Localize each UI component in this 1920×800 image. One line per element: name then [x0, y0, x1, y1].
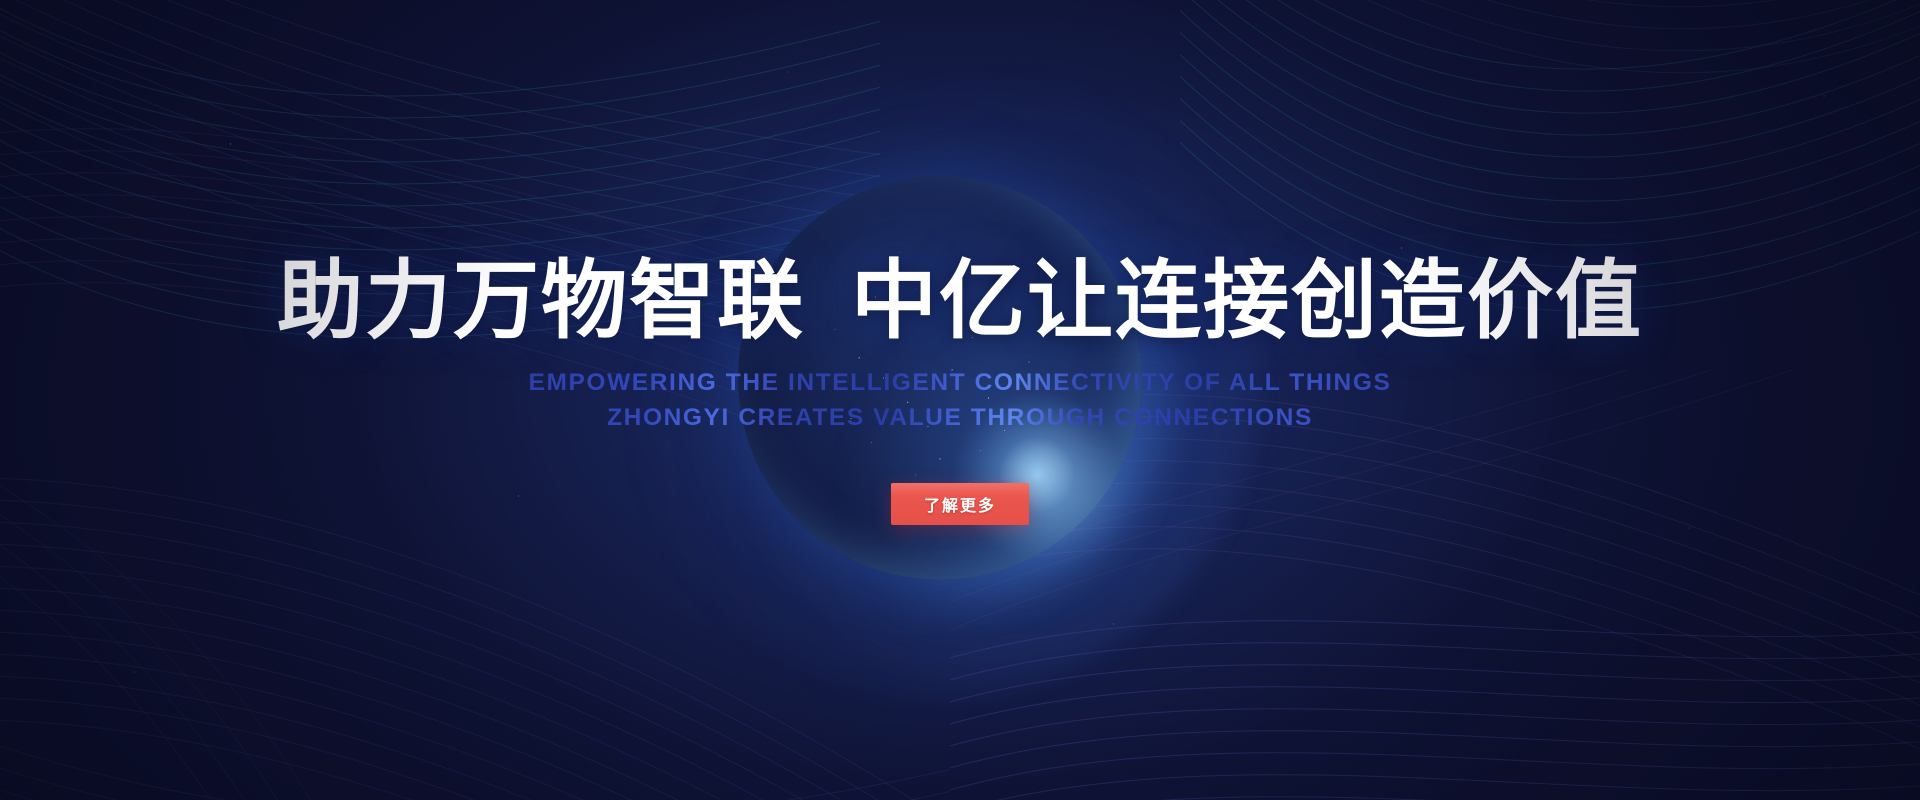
- headline-part-2: 中亿让连接创造价值: [851, 253, 1643, 349]
- subtitle-line-2: ZHONGYI CREATES VALUE THROUGH CONNECTION…: [529, 401, 1392, 436]
- hero-content: 助力万物智联中亿让连接创造价值 EMPOWERING THE INTELLIGE…: [0, 0, 1920, 800]
- subtitle-line-1: EMPOWERING THE INTELLIGENT CONNECTIVITY …: [529, 366, 1392, 401]
- headline-part-1: 助力万物智联: [277, 253, 805, 349]
- hero-subtitle: EMPOWERING THE INTELLIGENT CONNECTIVITY …: [529, 366, 1392, 436]
- page-title: 助力万物智联中亿让连接创造价值: [277, 255, 1643, 348]
- hero-banner: 助力万物智联中亿让连接创造价值 EMPOWERING THE INTELLIGE…: [0, 0, 1920, 800]
- learn-more-button[interactable]: 了解更多: [891, 483, 1029, 525]
